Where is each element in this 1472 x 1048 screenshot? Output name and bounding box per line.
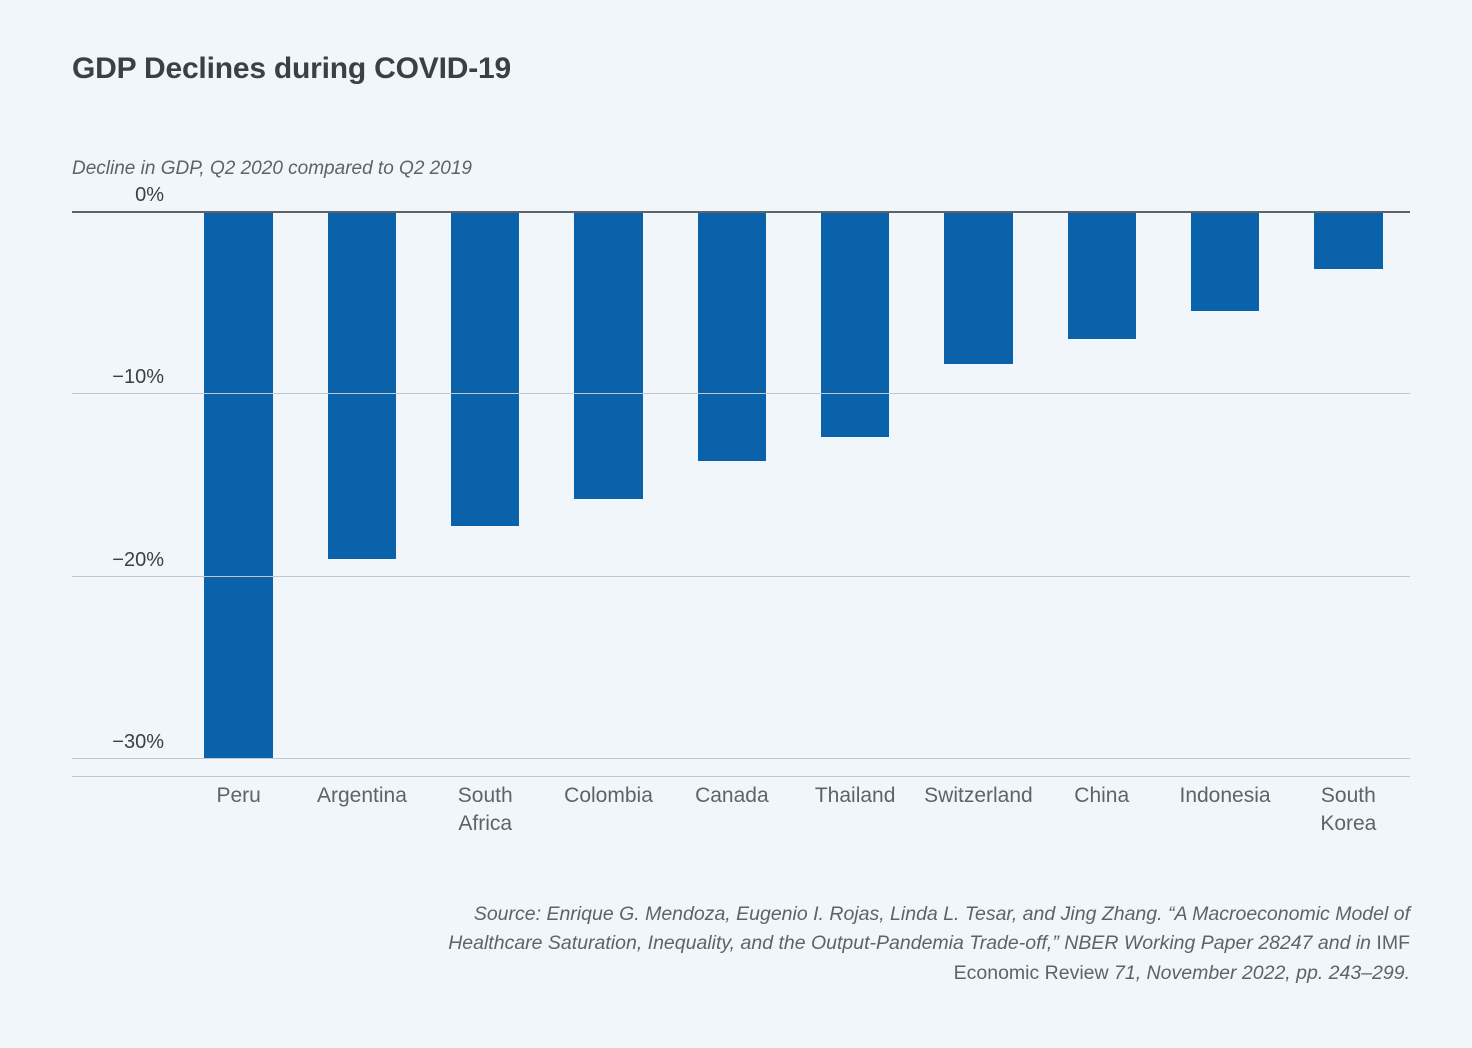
bar-south-africa[interactable] bbox=[451, 211, 519, 526]
bar-peru[interactable] bbox=[204, 211, 272, 758]
bar-indonesia[interactable] bbox=[1191, 211, 1259, 311]
chart-figure: GDP Declines during COVID-19 Decline in … bbox=[0, 0, 1472, 1048]
x-axis: PeruArgentinaSouthAfricaColombiaCanadaTh… bbox=[177, 776, 1410, 866]
bar-colombia[interactable] bbox=[574, 211, 642, 499]
x-tick-label: SouthKorea bbox=[1268, 782, 1428, 839]
bar-argentina[interactable] bbox=[328, 211, 396, 559]
bars-layer bbox=[177, 211, 1410, 776]
bar-china[interactable] bbox=[1068, 211, 1136, 339]
source-note: Source: Enrique G. Mendoza, Eugenio I. R… bbox=[400, 900, 1410, 988]
gridline-0 bbox=[72, 211, 1410, 213]
y-tick-label: −20% bbox=[112, 549, 164, 572]
y-tick-label: 0% bbox=[135, 184, 164, 207]
source-line-3-part-2: 71, November 2022, pp. 243–299. bbox=[1109, 962, 1410, 984]
x-tick-label-line: Africa bbox=[405, 810, 565, 838]
bar-switzerland[interactable] bbox=[944, 211, 1012, 364]
gridline-neg20 bbox=[72, 576, 1410, 577]
plot-area bbox=[177, 211, 1410, 776]
bar-south-korea[interactable] bbox=[1314, 211, 1382, 269]
source-line-3-part-1: Working Paper 28247 and in bbox=[1124, 932, 1377, 954]
plot-wrapper: 0%−10%−20%−30% PeruArgentinaSouthAfricaC… bbox=[72, 190, 1410, 776]
y-tick-label: −10% bbox=[112, 366, 164, 389]
y-axis: 0%−10%−20%−30% bbox=[72, 190, 172, 776]
gridline-neg30 bbox=[72, 758, 1410, 759]
bar-thailand[interactable] bbox=[821, 211, 889, 437]
page-title: GDP Declines during COVID-19 bbox=[72, 52, 511, 86]
x-tick-label-line: South bbox=[1268, 782, 1428, 810]
gridline-neg10 bbox=[72, 393, 1410, 394]
bar-canada[interactable] bbox=[698, 211, 766, 461]
y-tick-label: −30% bbox=[112, 731, 164, 754]
source-line-1: Source: Enrique G. Mendoza, Eugenio I. R… bbox=[474, 903, 1330, 925]
chart-subtitle: Decline in GDP, Q2 2020 compared to Q2 2… bbox=[72, 158, 472, 180]
x-tick-label-line: Korea bbox=[1268, 810, 1428, 838]
